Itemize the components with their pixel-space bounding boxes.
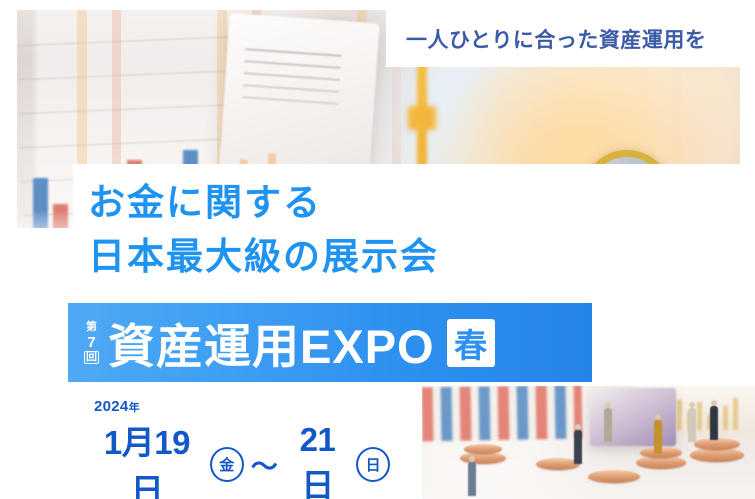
year-number: 2024 — [94, 398, 129, 415]
end-date: 21日 — [285, 421, 351, 499]
miniature-figure — [654, 420, 662, 454]
miniature-figure — [604, 408, 612, 442]
coin-stack — [588, 470, 640, 483]
start-day-of-week: 金 — [210, 447, 244, 482]
date-range: 1月19日 金 ～ 21日 日 — [90, 416, 390, 499]
headline-line-1: お金に関する — [88, 176, 558, 230]
headline: お金に関する 日本最大級の展示会 — [88, 176, 558, 284]
laptop-graphic — [590, 388, 676, 446]
coin-stack — [464, 444, 502, 454]
edition-counter: 回 — [84, 351, 99, 364]
miniature-figure — [468, 462, 476, 496]
edition-number: 7 — [87, 335, 95, 350]
title-banner: 第 7 回 資産運用EXPO 春 — [68, 303, 592, 382]
miniature-figure — [574, 430, 582, 464]
expo-poster: 一人ひとりに合った資産運用を お金に関する 日本最大級の展示会 第 7 回 資産… — [0, 0, 755, 499]
date-block: 2024年 1月19日 金 ～ 21日 日 東京ビッグサイト — [90, 398, 390, 499]
striped-chart-graphic — [422, 386, 582, 441]
bottom-photo — [422, 386, 755, 499]
tagline-panel: 一人ひとりに合った資産運用を — [386, 10, 755, 67]
edition-badge: 第 7 回 — [84, 322, 99, 364]
year-kanji: 年 — [129, 402, 140, 414]
tagline-text: 一人ひとりに合った資産運用を — [406, 24, 706, 54]
miniature-figure — [688, 408, 696, 442]
season-badge: 春 — [447, 319, 495, 367]
edition-kanji: 第 — [86, 322, 97, 333]
coin-stack — [690, 448, 744, 462]
year-label: 2024年 — [94, 398, 390, 415]
date-separator: ～ — [251, 445, 278, 484]
headline-line-2: 日本最大級の展示会 — [88, 230, 558, 284]
miniature-figure — [710, 406, 718, 440]
start-date: 1月19日 — [90, 416, 204, 499]
end-day-of-week: 日 — [356, 447, 390, 482]
event-title: 資産運用EXPO — [108, 308, 435, 377]
